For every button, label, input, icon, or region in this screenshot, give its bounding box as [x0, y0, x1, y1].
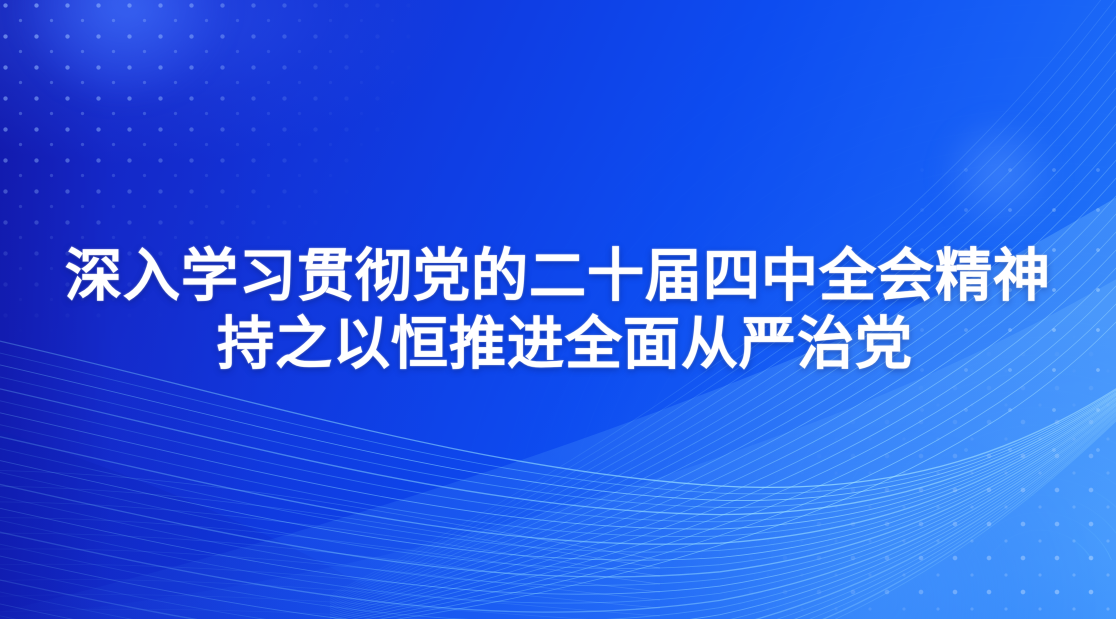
title-line-1: 深入学习贯彻党的二十届四中全会精神 [0, 243, 1116, 311]
banner-title: 深入学习贯彻党的二十届四中全会精神 持之以恒推进全面从严治党 [0, 243, 1116, 379]
title-line-2: 持之以恒推进全面从严治党 [0, 311, 1116, 379]
banner-canvas: 深入学习贯彻党的二十届四中全会精神 持之以恒推进全面从严治党 [0, 0, 1116, 619]
